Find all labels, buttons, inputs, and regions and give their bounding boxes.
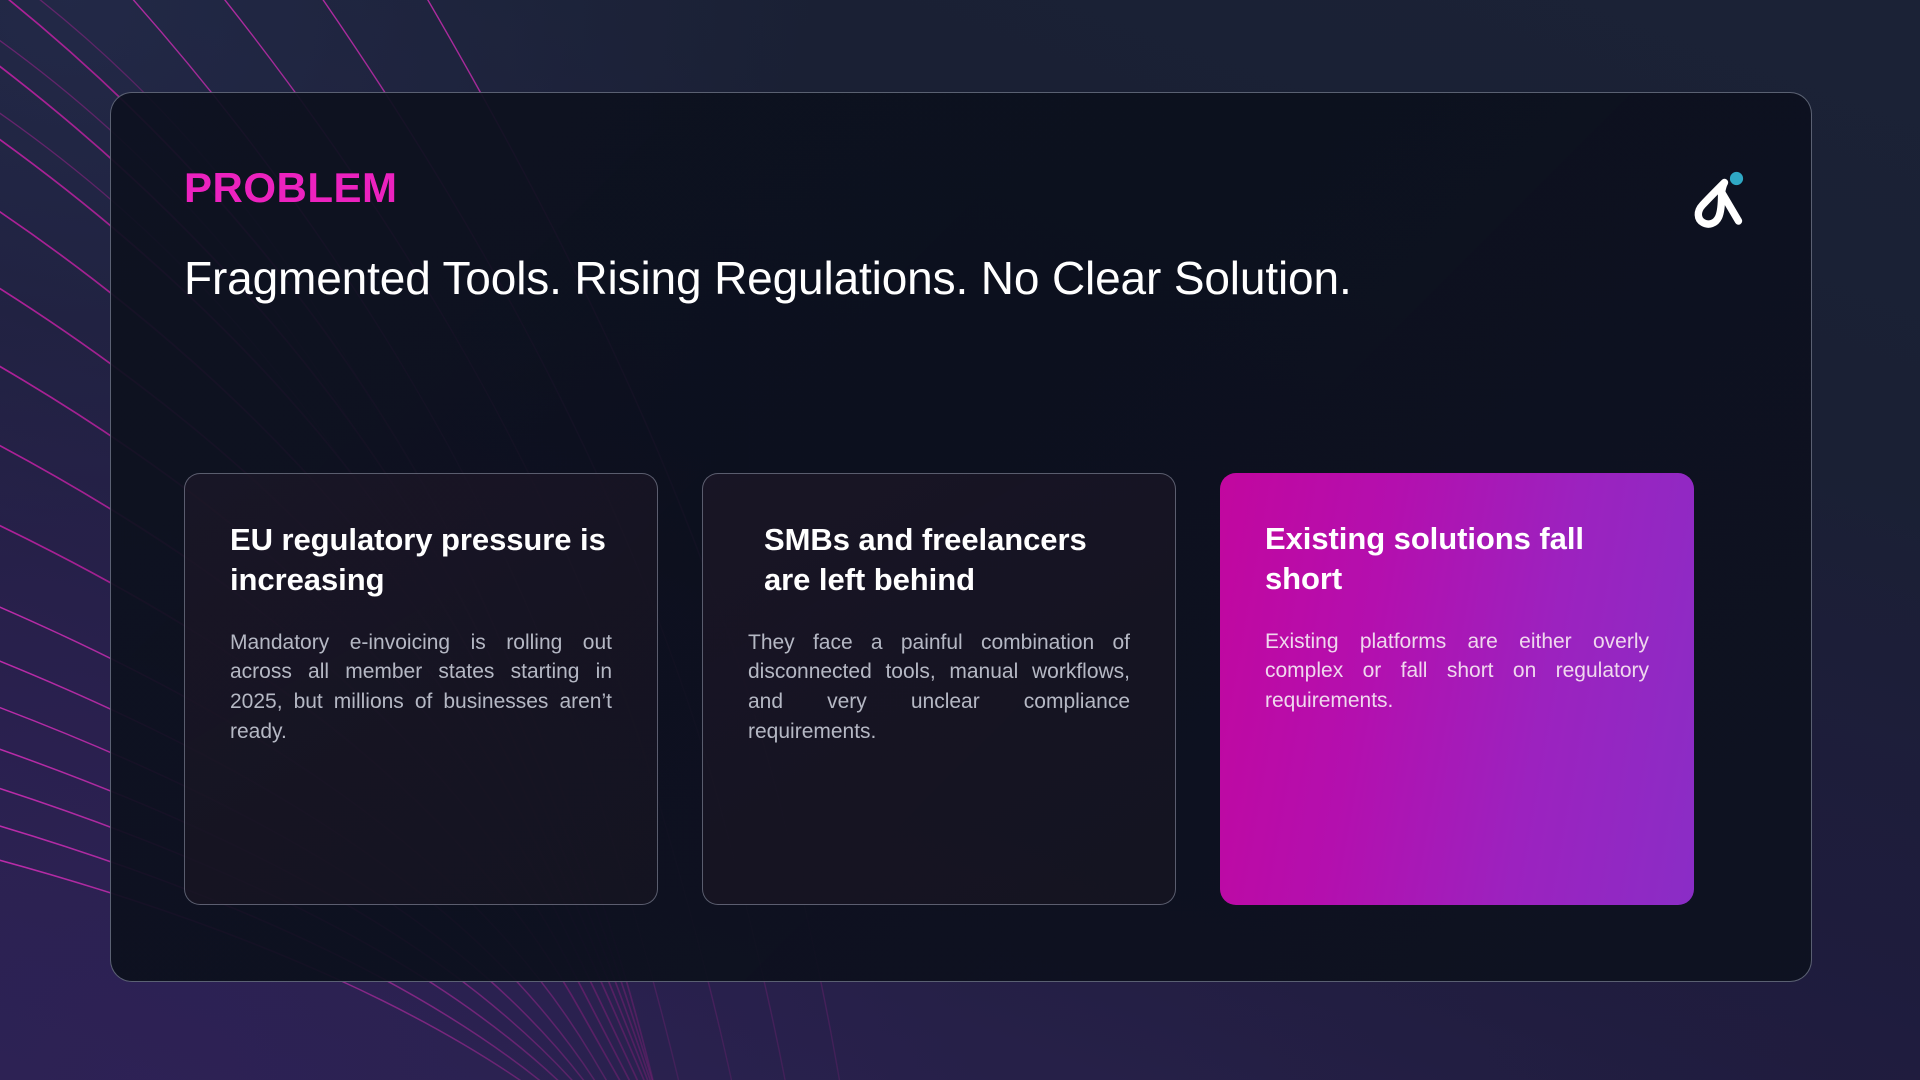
- card-title: SMBs and freelancers are left behind: [748, 520, 1130, 601]
- card-body: Existing platforms are either overly com…: [1265, 627, 1649, 716]
- slide-canvas: PROBLEM Fragmented Tools. Rising Regulat…: [0, 0, 1920, 1080]
- page-title: Fragmented Tools. Rising Regulations. No…: [184, 253, 1751, 305]
- problem-card: EU regulatory pressure is increasing Man…: [184, 473, 658, 905]
- problem-card-highlighted: Existing solutions fall short Existing p…: [1220, 473, 1694, 905]
- panel-header: PROBLEM Fragmented Tools. Rising Regulat…: [184, 167, 1751, 305]
- problem-cards: EU regulatory pressure is increasing Man…: [184, 473, 1694, 905]
- problem-panel: PROBLEM Fragmented Tools. Rising Regulat…: [110, 92, 1812, 982]
- card-body: They face a painful combination of disco…: [748, 628, 1130, 747]
- card-title: EU regulatory pressure is increasing: [230, 520, 612, 601]
- problem-card: SMBs and freelancers are left behind The…: [702, 473, 1176, 905]
- card-title: Existing solutions fall short: [1265, 519, 1649, 600]
- card-body: Mandatory e-invoicing is rolling out acr…: [230, 628, 612, 747]
- section-eyebrow: PROBLEM: [184, 167, 1751, 209]
- alpha-logo: [1680, 163, 1754, 235]
